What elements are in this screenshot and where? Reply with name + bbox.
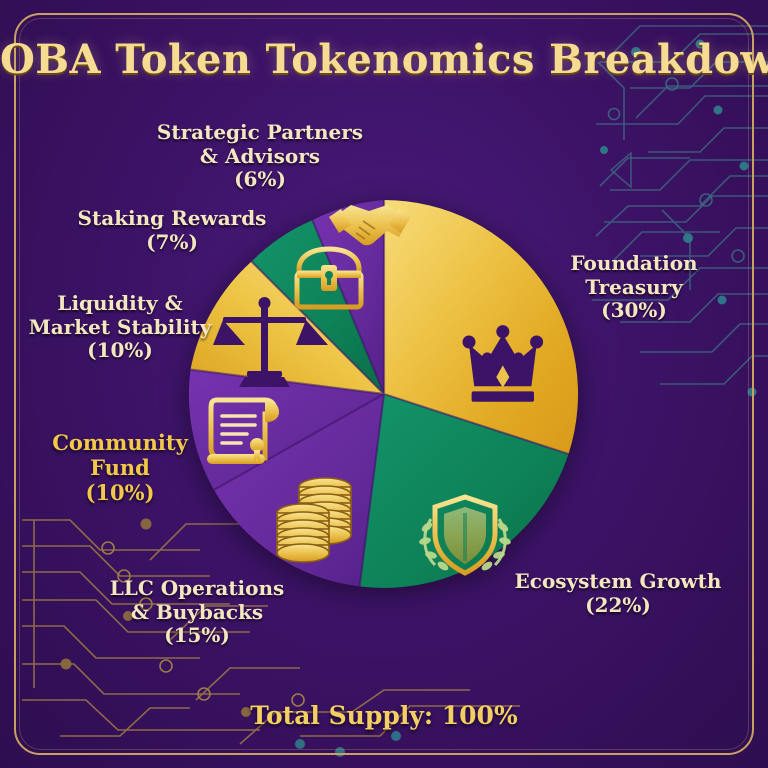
- infographic-canvas: OBA Token Tokenomics Breakdown: [0, 0, 768, 768]
- label-foundation-treasury: Foundation Treasury (30%): [530, 252, 738, 323]
- label-strategic-partners: Strategic Partners & Advisors (6%): [155, 121, 365, 192]
- total-supply-label: Total Supply: 100%: [0, 701, 768, 730]
- label-staking-rewards: Staking Rewards (7%): [72, 207, 272, 254]
- label-community-fund: Community Fund (10%): [35, 431, 205, 505]
- label-ecosystem-growth: Ecosystem Growth (22%): [508, 570, 728, 617]
- page-title: OBA Token Tokenomics Breakdown: [0, 36, 768, 83]
- label-liquidity-market-stability: Liquidity & Market Stability (10%): [20, 292, 220, 363]
- label-llc-operations: LLC Operations & Buybacks (15%): [92, 577, 302, 648]
- pie-chart: [187, 197, 581, 591]
